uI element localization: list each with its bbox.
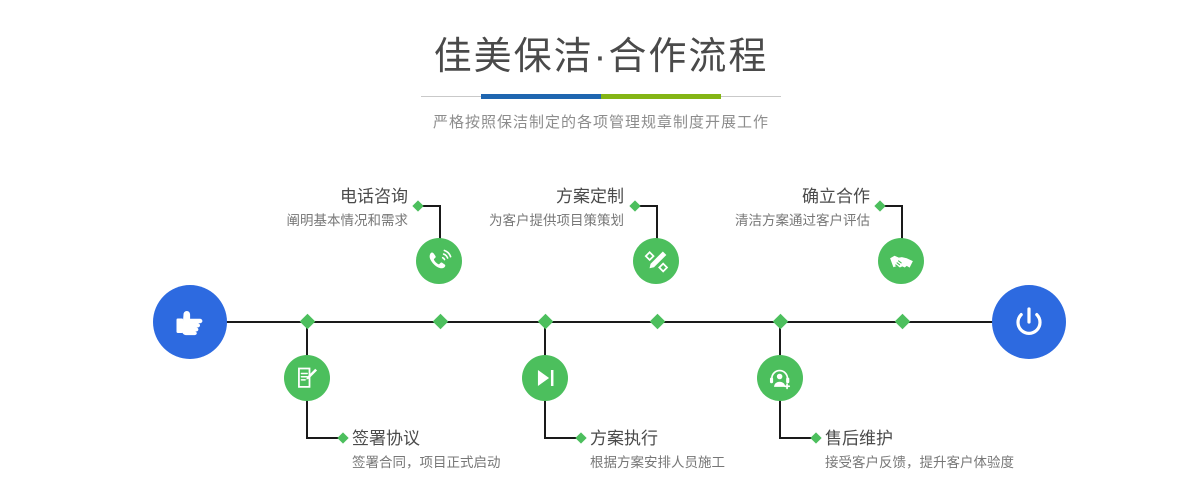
play-skip-icon: [532, 365, 558, 391]
step-title-6: 售后维护: [825, 428, 1155, 449]
step-icon-5: [878, 238, 924, 284]
timeline: 电话咨询 阐明基本情况和需求 签署协议 签署合同，项目正式启动: [0, 0, 1202, 502]
step-desc-6: 接受客户反馈，提升客户体验度: [825, 449, 1155, 472]
pencil-design-icon: [643, 248, 670, 275]
handshake-icon: [888, 248, 915, 275]
axis-marker-6: [773, 314, 789, 330]
power-icon: [1009, 302, 1049, 342]
step-icon-1: [416, 238, 462, 284]
step-desc-1: 阐明基本情况和需求: [150, 207, 408, 230]
phone-call-icon: [426, 248, 453, 275]
axis-marker-3: [650, 314, 666, 330]
pointing-hand-icon: [170, 302, 210, 342]
process-flow-infographic: 佳美保洁·合作流程 严格按照保洁制定的各项管理规章制度开展工作: [0, 0, 1202, 502]
step-desc-5: 清洁方案通过客户评估: [620, 207, 870, 230]
step-label-6: 售后维护 接受客户反馈，提升客户体验度: [825, 428, 1155, 472]
step-title-1: 电话咨询: [150, 186, 408, 207]
timeline-end-endpoint: [992, 285, 1066, 359]
axis-marker-5: [895, 314, 911, 330]
label-marker-2: [337, 432, 348, 443]
step-icon-4: [522, 355, 568, 401]
document-edit-icon: [294, 365, 320, 391]
step-icon-2: [284, 355, 330, 401]
axis-marker-1: [433, 314, 449, 330]
timeline-start-endpoint: [153, 285, 227, 359]
step-label-1: 电话咨询 阐明基本情况和需求: [150, 186, 408, 230]
axis-marker-4: [538, 314, 554, 330]
step-title-5: 确立合作: [620, 186, 870, 207]
step-icon-6: [757, 355, 803, 401]
headset-support-icon: [767, 365, 793, 391]
axis-marker-2: [300, 314, 316, 330]
step-icon-3: [633, 238, 679, 284]
label-marker-5: [874, 200, 885, 211]
step-label-5: 确立合作 清洁方案通过客户评估: [620, 186, 870, 230]
